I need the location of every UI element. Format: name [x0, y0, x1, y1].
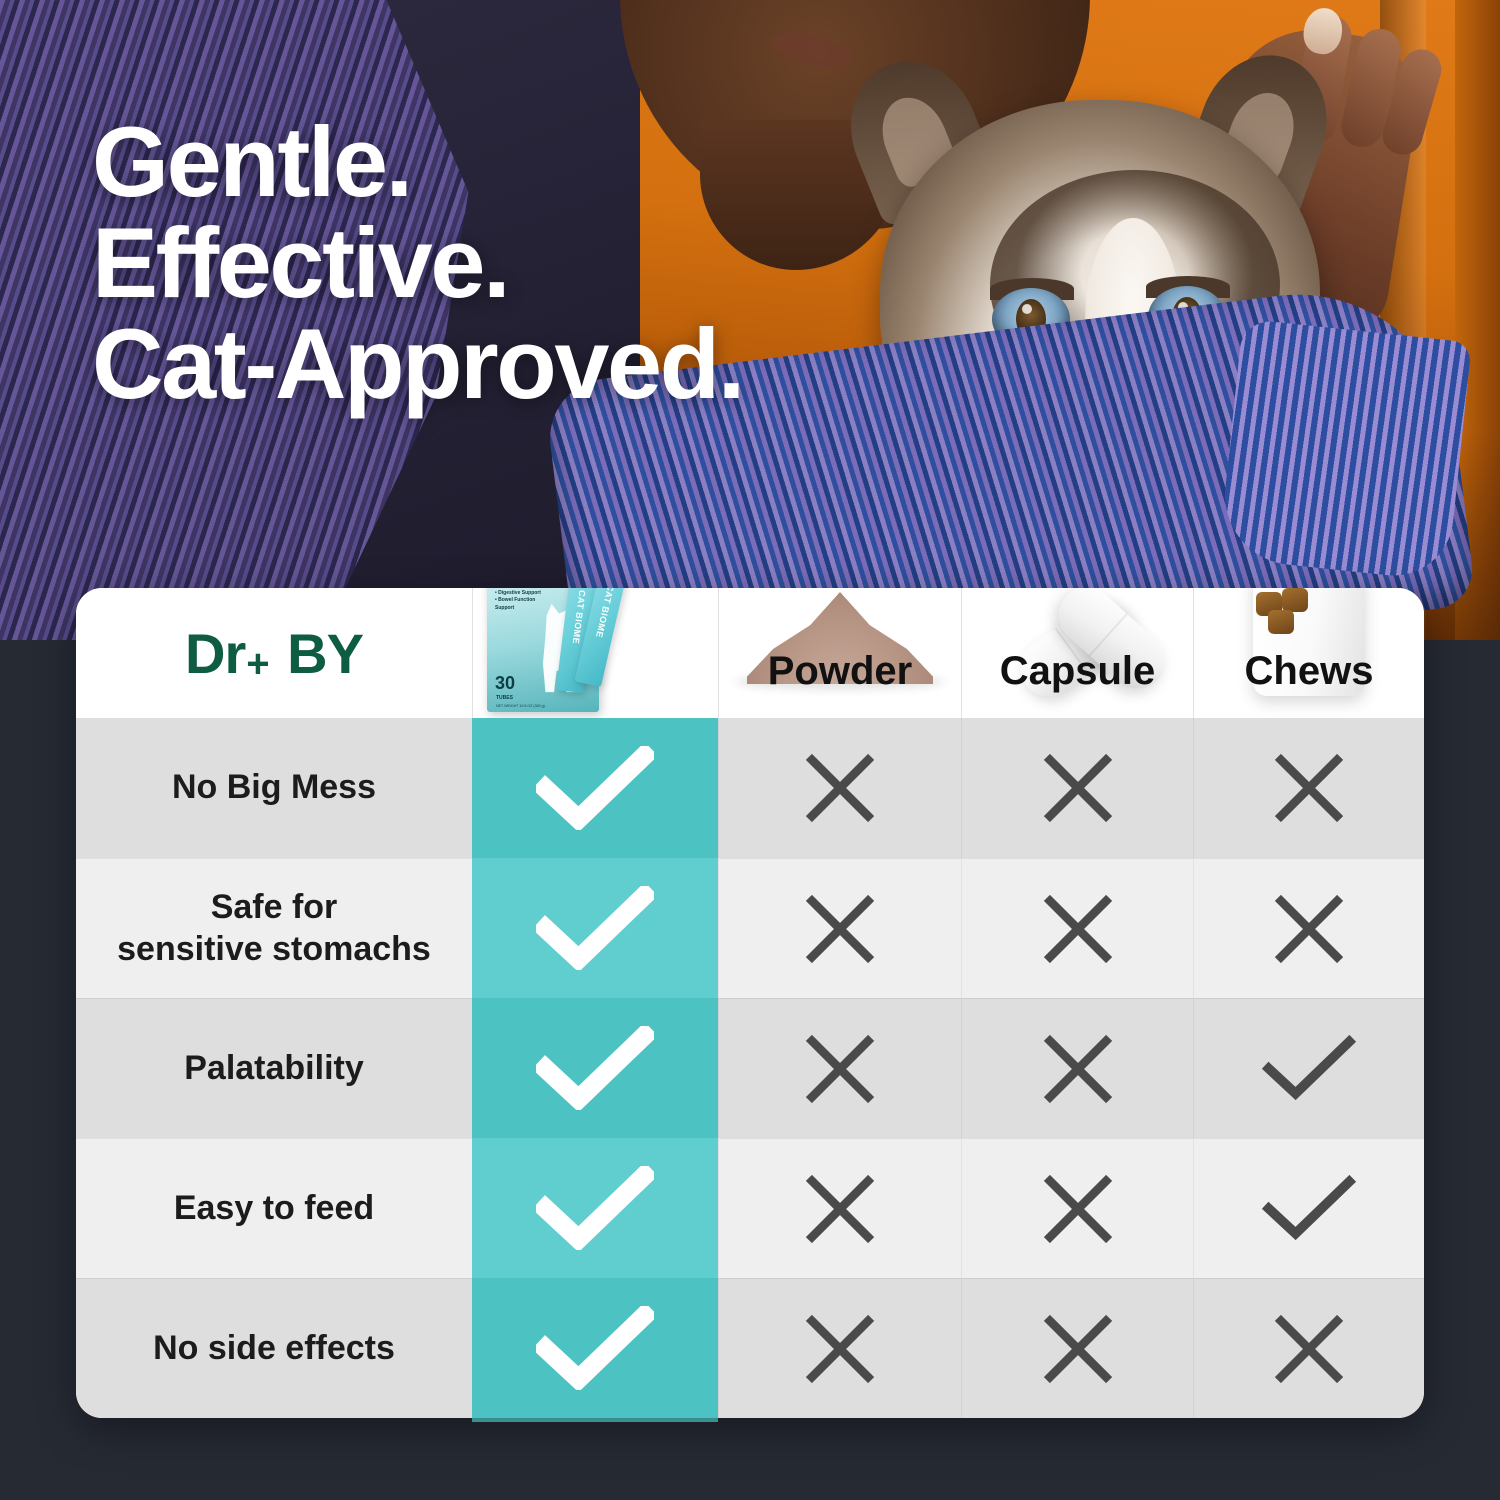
headline-line-2: Effective.: [92, 213, 912, 314]
cross-icon: [1039, 890, 1117, 968]
cell-chews-3: [1193, 1138, 1424, 1278]
cell-drby-4: [472, 1278, 718, 1418]
brand-header-cell: Dr+ BY: [76, 588, 472, 718]
cross-icon: [1039, 1030, 1117, 1108]
check-icon: [1261, 1034, 1357, 1103]
infographic-root: Gentle. Effective. Cat-Approved. Dr+ BY …: [0, 0, 1500, 1500]
feature-label: Easy to feed: [150, 1188, 398, 1229]
check-icon: [536, 746, 654, 831]
feature-label-cell: No Big Mess: [76, 718, 472, 858]
brand-plus: +: [246, 642, 268, 687]
cell-drby-1: [472, 858, 718, 998]
check-icon: [536, 1026, 654, 1111]
feature-label: No side effects: [129, 1328, 419, 1369]
feature-label-cell: No side effects: [76, 1278, 472, 1418]
cross-icon: [801, 890, 879, 968]
cross-icon: [1270, 1310, 1348, 1388]
cross-icon: [1039, 1170, 1117, 1248]
column-label-chews: Chews: [1194, 649, 1424, 694]
box-count: 30: [495, 673, 515, 694]
cell-capsule-1: [961, 858, 1193, 998]
cell-powder-0: [718, 718, 961, 858]
cell-powder-2: [718, 998, 961, 1138]
cross-icon: [1270, 749, 1348, 827]
cross-icon: [1039, 749, 1117, 827]
page-title: Gentle. Effective. Cat-Approved.: [92, 112, 912, 415]
column-header-drby: Daily Cares for Your Cat CATBIOME • Gut …: [472, 588, 718, 718]
cross-icon: [801, 1030, 879, 1108]
comparison-table: Dr+ BY Daily Cares for Your Cat CATBIOME…: [76, 588, 1424, 1418]
check-icon: [536, 1306, 654, 1391]
brand-suffix: BY: [287, 621, 363, 686]
cell-chews-0: [1193, 718, 1424, 858]
cell-drby-0: [472, 718, 718, 858]
cross-icon: [1270, 890, 1348, 968]
cell-drby-3: [472, 1138, 718, 1278]
box-count-unit: TUBES: [496, 695, 513, 701]
box-bullets: • Gut Health Support • Digestive Support…: [495, 588, 553, 612]
cell-capsule-3: [961, 1138, 1193, 1278]
cat-biome-product-image: Daily Cares for Your Cat CATBIOME • Gut …: [487, 588, 607, 720]
cross-icon: [801, 749, 879, 827]
chew-piece-2: [1282, 588, 1308, 612]
cell-capsule-4: [961, 1278, 1193, 1418]
feature-label: Safe forsensitive stomachs: [93, 887, 455, 970]
cell-chews-1: [1193, 858, 1424, 998]
column-header-capsule: Capsule: [961, 588, 1193, 718]
feature-label: No Big Mess: [148, 767, 400, 808]
cell-powder-4: [718, 1278, 961, 1418]
cell-powder-3: [718, 1138, 961, 1278]
sweater-cuff: [1218, 319, 1472, 582]
cell-chews-2: [1193, 998, 1424, 1138]
feature-label-cell: Easy to feed: [76, 1138, 472, 1278]
brand-logo: Dr+ BY: [185, 621, 363, 686]
check-icon: [1261, 1174, 1357, 1243]
cross-icon: [1039, 1310, 1117, 1388]
cell-chews-4: [1193, 1278, 1424, 1418]
column-label-capsule: Capsule: [962, 649, 1193, 694]
cross-icon: [801, 1310, 879, 1388]
feature-label-cell: Safe forsensitive stomachs: [76, 858, 472, 998]
cell-capsule-2: [961, 998, 1193, 1138]
chew-piece-3: [1268, 610, 1294, 634]
comparison-table-card: Dr+ BY Daily Cares for Your Cat CATBIOME…: [76, 588, 1424, 1418]
cross-icon: [801, 1170, 879, 1248]
headline-line-3: Cat-Approved.: [92, 314, 912, 415]
feature-label-cell: Palatability: [76, 998, 472, 1138]
check-icon: [536, 886, 654, 971]
column-label-powder: Powder: [719, 649, 961, 694]
column-header-powder: Powder: [718, 588, 961, 718]
brand-name: Dr: [185, 621, 245, 686]
column-header-chews: Chews: [1193, 588, 1424, 718]
feature-label: Palatability: [160, 1048, 388, 1089]
box-net-weight: NET WEIGHT 10.5 OZ (300 g): [496, 704, 545, 708]
check-icon: [536, 1166, 654, 1251]
cell-powder-1: [718, 858, 961, 998]
cell-drby-2: [472, 998, 718, 1138]
cell-capsule-0: [961, 718, 1193, 858]
headline-line-1: Gentle.: [92, 112, 912, 213]
